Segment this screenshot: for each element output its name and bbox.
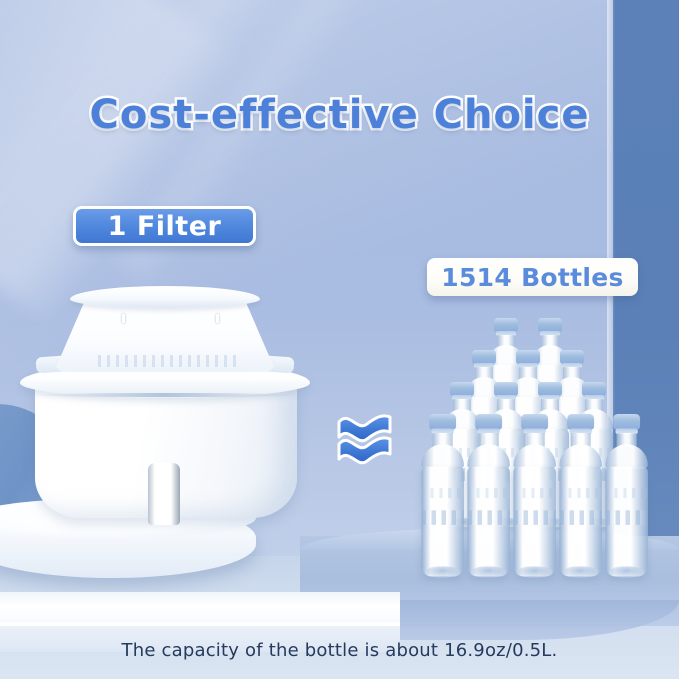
bottle-base	[425, 566, 461, 577]
bottle-texture	[467, 488, 510, 498]
bottle-count-badge: 1514 Bottles	[427, 258, 638, 296]
bottle-base	[609, 566, 645, 577]
filter-count-label: 1 Filter	[108, 211, 222, 242]
bottle-base	[471, 566, 507, 577]
bottle-texture	[559, 488, 602, 498]
bottle-cap-icon	[582, 382, 606, 396]
bottle-cap-icon	[472, 350, 496, 364]
bottle-base	[563, 566, 599, 577]
filter-count-badge: 1 Filter	[73, 206, 256, 246]
bottle-water-line	[605, 510, 648, 525]
filter-collar-seam	[30, 393, 300, 397]
bottle-texture	[605, 488, 648, 498]
bottle-cap-icon	[521, 414, 548, 430]
filter-cap	[70, 286, 260, 308]
bottle-cap-icon	[475, 414, 502, 430]
filter-vent-grille	[98, 355, 238, 367]
water-filter-cartridge	[20, 280, 310, 525]
bottle-count-label: 1514 Bottles	[441, 263, 623, 292]
bottle-cap-icon	[538, 318, 562, 332]
bottle-texture	[513, 488, 556, 498]
bottle-cap-icon	[494, 382, 518, 396]
bottle-cap-icon	[560, 350, 584, 364]
water-bottle-pyramid	[424, 318, 656, 580]
white-ledge-highlight	[0, 622, 400, 626]
page-title: Cost-effective Choice	[0, 92, 679, 138]
capacity-caption: The capacity of the bottle is about 16.9…	[0, 640, 679, 661]
bottle-texture	[421, 488, 464, 498]
bottle-base	[517, 566, 553, 577]
bottle-cap-icon	[613, 414, 640, 430]
bottle-cap-icon	[494, 318, 518, 332]
bottle-cap-icon	[429, 414, 456, 430]
bottle-water-line	[513, 510, 556, 525]
bottle-water-line	[559, 510, 602, 525]
filter-slot-right	[216, 314, 219, 323]
bottle-cap-icon	[538, 382, 562, 396]
approximately-equals-icon	[336, 408, 394, 468]
bottle-water-line	[421, 510, 464, 525]
filter-slot-left	[122, 314, 125, 323]
bottle-cap-icon	[567, 414, 594, 430]
bottle-cap-icon	[516, 350, 540, 364]
bottle-cap-icon	[450, 382, 474, 396]
filter-tab	[148, 463, 180, 525]
product-infographic: Cost-effective Choice 1 Filter 1514 Bott…	[0, 0, 679, 679]
bottle-water-line	[467, 510, 510, 525]
